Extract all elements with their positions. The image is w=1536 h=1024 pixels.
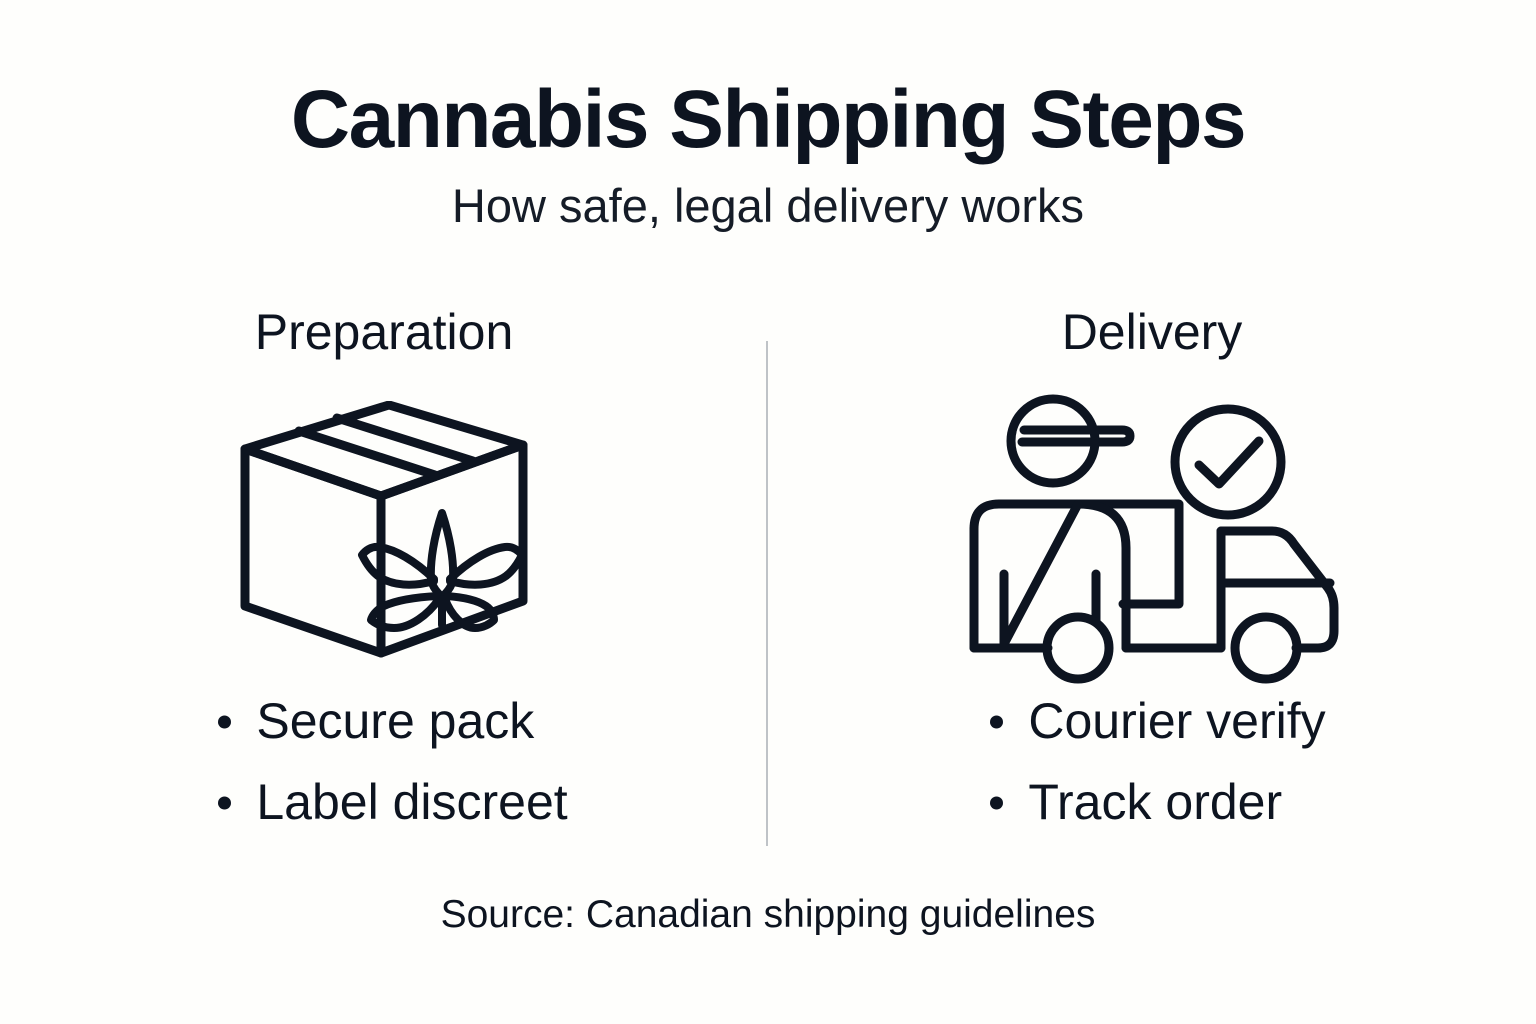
column-heading-delivery: Delivery [1062, 305, 1243, 377]
source-note: Source: Canadian shipping guidelines [0, 893, 1536, 937]
courier-head-with-cap-icon [1011, 399, 1130, 483]
preparation-bullet-list: Secure pack Label discreet [210, 681, 567, 843]
page-subtitle: How safe, legal delivery works [0, 180, 1536, 232]
list-item: Label discreet [210, 762, 567, 843]
delivery-bullet-list: Courier verify Track order [982, 681, 1325, 843]
column-preparation: Preparation [0, 305, 768, 865]
header: Cannabis Shipping Steps How safe, legal … [0, 78, 1536, 231]
shipping-box-with-cannabis-leaf-icon [229, 401, 539, 671]
page-title: Cannabis Shipping Steps [0, 78, 1536, 162]
list-item: Secure pack [210, 681, 567, 762]
courier-with-delivery-truck-and-check-icon [956, 386, 1348, 686]
columns-container: Preparation [0, 305, 1536, 865]
preparation-icon-wrap [229, 391, 539, 681]
column-delivery: Delivery [768, 305, 1536, 865]
delivery-icon-wrap [956, 391, 1348, 681]
check-circle-icon [1175, 409, 1281, 515]
list-item: Track order [982, 762, 1325, 843]
infographic-canvas: Cannabis Shipping Steps How safe, legal … [0, 0, 1536, 1024]
list-item: Courier verify [982, 681, 1325, 762]
truck-rear-wheel-icon [1047, 617, 1109, 679]
truck-front-wheel-icon [1235, 617, 1297, 679]
column-heading-preparation: Preparation [255, 305, 514, 377]
